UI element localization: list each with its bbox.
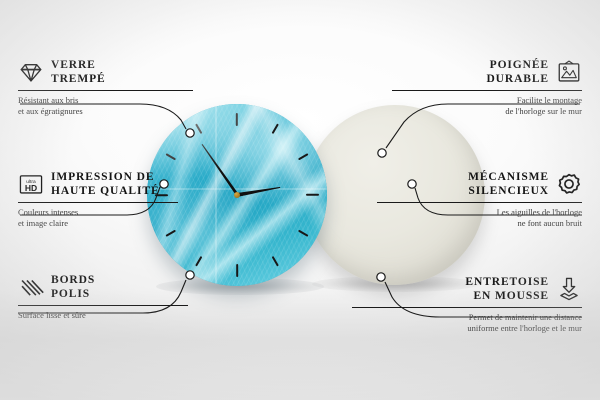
callout-entretoise-en-mousse: ENTRETOISE EN MOUSSE Permet de maintenir…: [352, 275, 582, 334]
callout-rule: [18, 202, 178, 203]
callout-head: POIGNÉE DURABLE: [392, 58, 582, 86]
callout-subtext: Couleurs intenses et image claire: [18, 207, 208, 229]
sub-line-1: Surface lisse et sûre: [18, 310, 198, 321]
picture-frame-icon: [556, 59, 582, 85]
callout-title: VERRE TREMPÉ: [51, 58, 106, 86]
title-line-1: MÉCANISME: [468, 170, 549, 184]
title-line-2: TREMPÉ: [51, 72, 106, 86]
sub-line-1: Permet de maintenir une distance: [352, 312, 582, 323]
callout-head: VERRE TREMPÉ: [18, 58, 200, 86]
sub-line-2: uniforme entre l'horloge et le mur: [352, 323, 582, 334]
hand-center-cap: [234, 192, 240, 198]
callout-verre-trempe: VERRE TREMPÉ Résistant aux bris et aux é…: [18, 58, 200, 117]
callout-rule: [392, 90, 582, 91]
seam-vertical: [215, 104, 217, 286]
callout-rule: [18, 305, 188, 306]
callout-poignee-durable: POIGNÉE DURABLE Facilite le montage de l…: [392, 58, 582, 117]
sub-line-1: Résistant aux bris: [18, 95, 200, 106]
callout-title: BORDS POLIS: [51, 273, 95, 301]
title-line-2: SILENCIEUX: [468, 184, 549, 198]
callout-rule: [18, 90, 193, 91]
ultra-hd-icon: ultra HD: [18, 171, 44, 197]
callout-subtext: Facilite le montage de l'horloge sur le …: [392, 95, 582, 117]
title-line-2: HAUTE QUALITÉ: [51, 184, 160, 198]
sub-line-1: Couleurs intenses: [18, 207, 208, 218]
down-arrow-layers-icon: [556, 276, 582, 302]
sub-line-1: Les aiguilles de l'horloge: [377, 207, 582, 218]
callout-head: ENTRETOISE EN MOUSSE: [352, 275, 582, 303]
callout-title: IMPRESSION DE HAUTE QUALITÉ: [51, 170, 160, 198]
sub-line-2: de l'horloge sur le mur: [392, 106, 582, 117]
tick-mark: [236, 264, 238, 277]
callout-head: MÉCANISME SILENCIEUX: [377, 170, 582, 198]
gear-icon: [556, 171, 582, 197]
sub-line-2: et aux égratignures: [18, 106, 200, 117]
title-line-1: ENTRETOISE: [465, 275, 549, 289]
title-line-1: VERRE: [51, 58, 106, 72]
title-line-1: POIGNÉE: [486, 58, 549, 72]
title-line-1: BORDS: [51, 273, 95, 287]
callout-subtext: Surface lisse et sûre: [18, 310, 198, 321]
title-line-2: POLIS: [51, 287, 95, 301]
callout-title: POIGNÉE DURABLE: [486, 58, 549, 86]
sub-line-2: et image claire: [18, 218, 208, 229]
callout-impression-haute-qualite: ultra HD IMPRESSION DE HAUTE QUALITÉ Cou…: [18, 170, 208, 229]
sub-line-2: ne font aucun bruit: [377, 218, 582, 229]
sub-line-1: Facilite le montage: [392, 95, 582, 106]
title-line-2: DURABLE: [486, 72, 549, 86]
callout-title: ENTRETOISE EN MOUSSE: [465, 275, 549, 303]
infographic-canvas: AA: [0, 0, 600, 400]
callout-title: MÉCANISME SILENCIEUX: [468, 170, 549, 198]
callout-subtext: Les aiguilles de l'horloge ne font aucun…: [377, 207, 582, 229]
callout-rule: [352, 307, 582, 308]
title-line-2: EN MOUSSE: [465, 289, 549, 303]
callout-bords-polis: BORDS POLIS Surface lisse et sûre: [18, 273, 198, 321]
callout-rule: [377, 202, 582, 203]
callout-head: ultra HD IMPRESSION DE HAUTE QUALITÉ: [18, 170, 208, 198]
polished-edges-icon: [18, 274, 44, 300]
title-line-1: IMPRESSION DE: [51, 170, 160, 184]
diamond-icon: [18, 59, 44, 85]
callout-subtext: Permet de maintenir une distance uniform…: [352, 312, 582, 334]
callout-head: BORDS POLIS: [18, 273, 198, 301]
callout-mecanisme-silencieux: MÉCANISME SILENCIEUX Les aiguilles de l'…: [377, 170, 582, 229]
callout-subtext: Résistant aux bris et aux égratignures: [18, 95, 200, 117]
ultra-hd-bottom-text: HD: [25, 183, 37, 193]
